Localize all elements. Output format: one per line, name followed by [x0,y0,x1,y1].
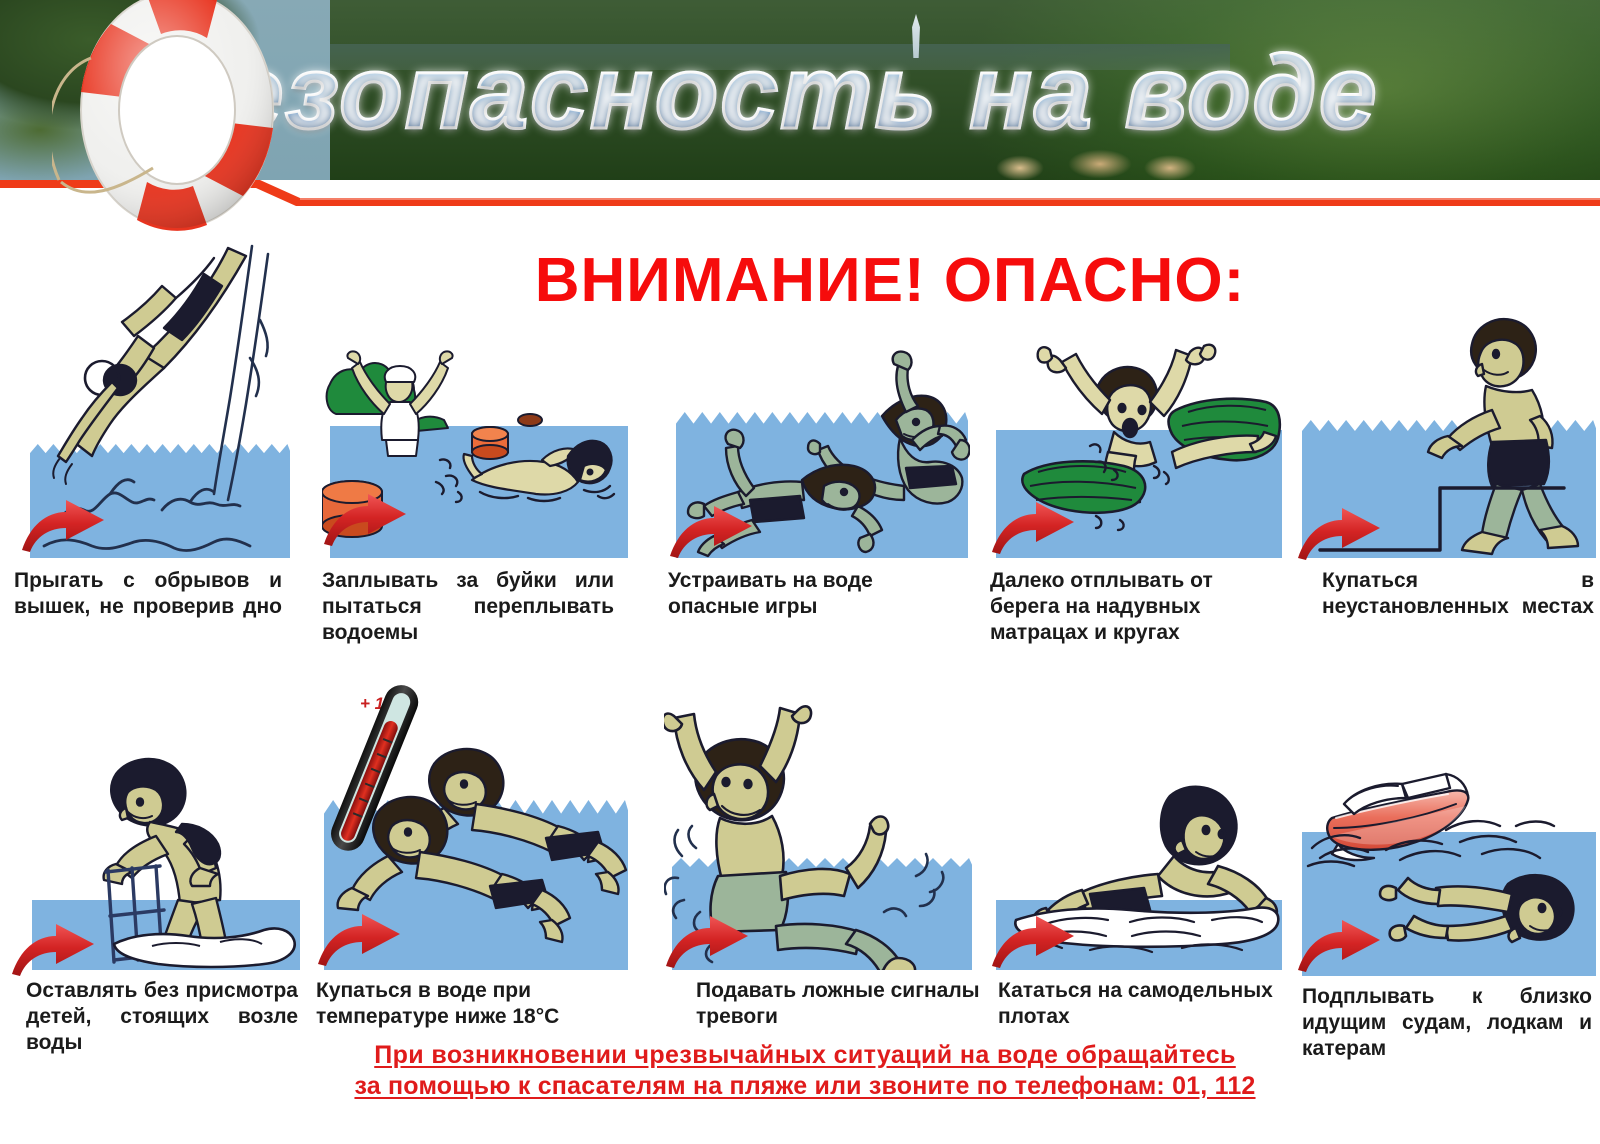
red-arrow-marker [322,490,408,548]
red-arrow-marker [10,920,96,978]
card-dangerous-games: Устраивать на воде опасные игры [668,340,970,620]
card-caption: Заплывать за буйки или пытаться переплыв… [322,568,614,672]
card-caption: Купаться в неустановленных местах [1322,568,1594,646]
illustration-dangerous-games [668,340,970,558]
illustration-inflatables-far [990,340,1282,558]
card-caption: Оставлять без присмотра детей, стоящих в… [26,978,298,1082]
card-unattended-children: Оставлять без присмотра детей, стоящих в… [10,740,300,1082]
card-caption: Подплывать к близко идущим судам, лодкам… [1302,984,1592,1088]
card-unmarked-places: Купаться в неустановленных местах [1296,300,1596,646]
page-title: Безопасность на воде [150,34,1570,152]
notice-line-2: за помощью к спасателям на пляже или зво… [300,1071,1310,1102]
card-caption: Прыгать с обрывов и вышек, не проверив д… [14,568,282,646]
card-cliff-diving: Прыгать с обрывов и вышек, не проверив д… [14,228,290,646]
card-close-to-boats: Подплывать к близко идущим судам, лодкам… [1296,766,1596,1088]
illustration-unmarked-places [1296,300,1596,558]
red-arrow-marker [664,912,750,970]
notice-line-1: При возникновении чрезвычайных ситуаций … [300,1040,1310,1071]
illustration-unattended-children [10,740,300,970]
red-arrow-marker [1296,916,1382,974]
illustration-close-to-boats [1296,766,1596,976]
illustration-cliff-diving [14,228,290,558]
illustration-cold-water: + 18°C [316,672,628,970]
red-arrow-marker [990,498,1076,556]
card-past-buoys: Заплывать за буйки или пытаться переплыв… [322,340,628,672]
card-caption: Подавать ложные сигналы тревоги [696,978,996,1030]
red-arrow-marker [316,910,402,968]
thermometer-icon [320,672,430,862]
card-false-alarm: Подавать ложные сигналы тревоги [664,700,974,1030]
card-caption: Устраивать на воде опасные игры [668,568,960,620]
red-arrow-marker [990,912,1076,970]
card-caption: Купаться в воде при температуре ниже 18°… [316,978,616,1030]
card-homemade-rafts: Кататься на самодельных плотах [990,760,1282,1030]
illustration-past-buoys [322,340,628,558]
red-arrow-marker [1296,504,1382,562]
life-ring-icon [52,0,302,232]
card-inflatables-far: Далеко отплывать от берега на надувных м… [990,340,1282,646]
card-caption: Кататься на самодельных плотах [998,978,1278,1030]
illustration-homemade-rafts [990,760,1282,970]
card-caption: Далеко отплывать от берега на надувных м… [990,568,1270,646]
red-arrow-marker [20,496,106,554]
card-cold-water: + 18°C [316,672,628,1030]
emergency-notice: При возникновении чрезвычайных ситуаций … [300,1040,1310,1102]
danger-headline: ВНИМАНИЕ! ОПАСНО: [430,246,1350,316]
red-arrow-marker [668,502,754,560]
illustration-false-alarm [664,700,974,970]
